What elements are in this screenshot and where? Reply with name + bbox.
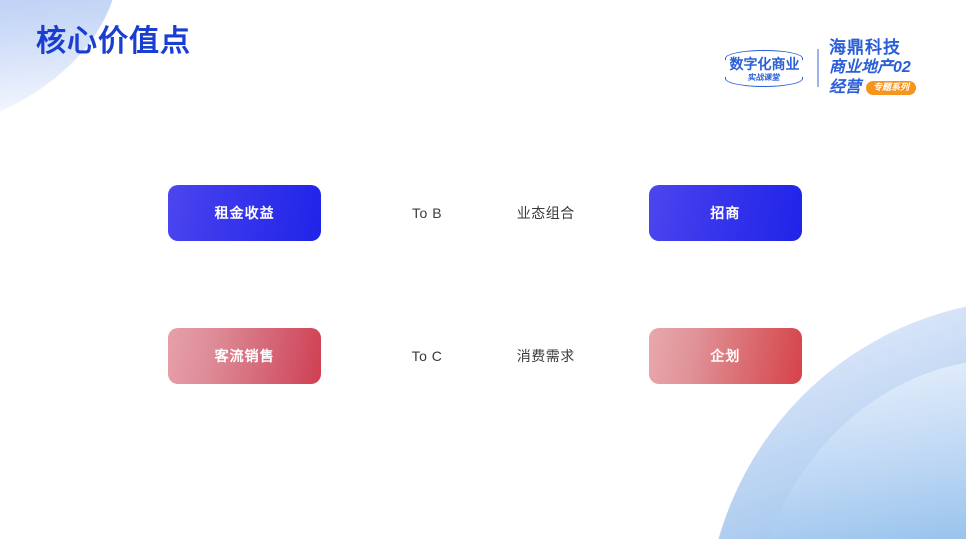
matrix-row-to-c: 客流销售 To C 消费需求 企划 xyxy=(168,328,802,384)
pill-marketing-planning[interactable]: 企划 xyxy=(649,328,802,384)
topic-label-tenant-mix: 业态组合 xyxy=(482,203,609,223)
pill-leasing[interactable]: 招商 xyxy=(649,185,802,241)
pill-rental-revenue[interactable]: 租金收益 xyxy=(168,185,321,241)
value-point-matrix: 租金收益 To B 业态组合 招商 客流销售 To C 消费需求 企划 xyxy=(0,0,966,539)
audience-label-to-b: To B xyxy=(372,205,482,221)
topic-label-consumer-demand: 消费需求 xyxy=(482,346,609,366)
slide-canvas: 核心价值点 数字化商业 实战课堂 海鼎科技 商业地产02 经营 专题系列 租金收… xyxy=(0,0,966,539)
audience-label-to-c: To C xyxy=(372,348,482,364)
matrix-row-to-b: 租金收益 To B 业态组合 招商 xyxy=(168,185,802,241)
pill-footfall-sales[interactable]: 客流销售 xyxy=(168,328,321,384)
